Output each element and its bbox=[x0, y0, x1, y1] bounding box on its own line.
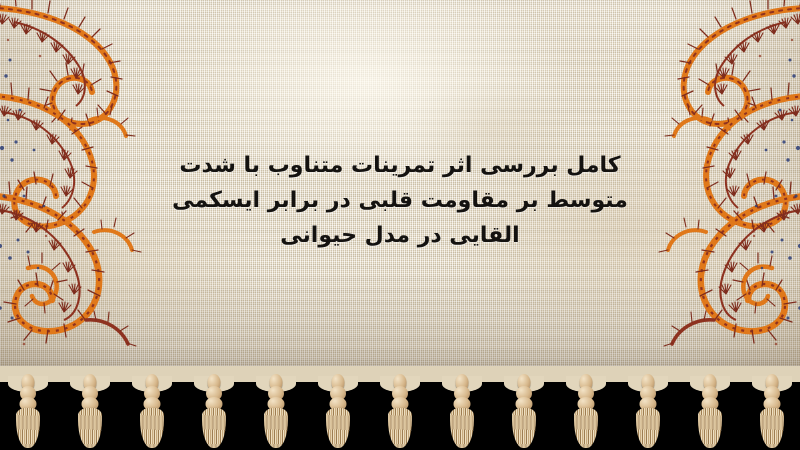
tassel bbox=[201, 374, 227, 446]
tassel-skirt bbox=[574, 408, 598, 448]
tassel-skirt bbox=[140, 408, 164, 448]
title-line-2: متوسط بر مقاومت قلبی در برابر ایسکمی bbox=[0, 183, 800, 218]
title-line-3: القایی در مدل حیوانی bbox=[0, 218, 800, 253]
title-card: کامل بررسی اثر تمرینات متناوب با شدت متو… bbox=[0, 0, 800, 450]
tassel-skirt bbox=[264, 408, 288, 448]
tassel-skirt bbox=[512, 408, 536, 448]
tassel bbox=[77, 374, 103, 446]
tassel-skirt bbox=[16, 408, 40, 448]
tassel-skirt bbox=[388, 408, 412, 448]
tassel bbox=[573, 374, 599, 446]
tassel bbox=[15, 374, 41, 446]
tassel-skirt bbox=[326, 408, 350, 448]
tassel bbox=[325, 374, 351, 446]
tassel bbox=[139, 374, 165, 446]
tassel bbox=[635, 374, 661, 446]
tassel bbox=[697, 374, 723, 446]
title-line-1: کامل بررسی اثر تمرینات متناوب با شدت bbox=[0, 148, 800, 183]
tassel-skirt bbox=[760, 408, 784, 448]
tassel bbox=[387, 374, 413, 446]
tassel bbox=[511, 374, 537, 446]
page-title: کامل بررسی اثر تمرینات متناوب با شدت متو… bbox=[0, 148, 800, 253]
tassel-skirt bbox=[698, 408, 722, 448]
tassel-skirt bbox=[78, 408, 102, 448]
tassel-skirt bbox=[202, 408, 226, 448]
tassel bbox=[263, 374, 289, 446]
tassel bbox=[759, 374, 785, 446]
fringe-band bbox=[0, 366, 800, 450]
tassel bbox=[449, 374, 475, 446]
tassel-skirt bbox=[636, 408, 660, 448]
tassel-skirt bbox=[450, 408, 474, 448]
